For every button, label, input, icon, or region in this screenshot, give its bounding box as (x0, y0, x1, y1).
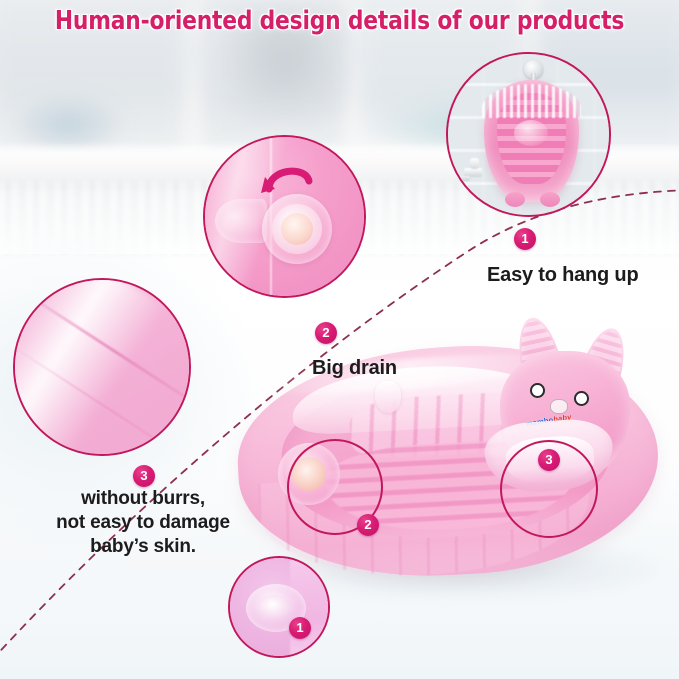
caption-without-burrs-line1: without burrs, (18, 487, 268, 511)
valve-inner-ring (257, 595, 291, 619)
caption-without-burrs-line2: not easy to damage (18, 511, 268, 535)
caption-big-drain: Big drain (312, 357, 397, 380)
callout-circle-easy-to-hang-up[interactable] (446, 52, 611, 217)
bunny-nose (550, 399, 568, 414)
caption-easy-to-hang-up: Easy to hang up (487, 264, 638, 287)
callout-circle-hanging-loop[interactable] (228, 556, 330, 658)
bunny-eye-right (574, 391, 589, 406)
badge-2-big-drain[interactable]: 2 (315, 322, 337, 344)
callout-circle-big-drain[interactable] (203, 135, 366, 298)
callout-circle-smooth-seam[interactable] (13, 278, 191, 456)
caption-without-burrs-line3: baby’s skin. (18, 535, 268, 559)
window-blue-tint (8, 95, 128, 155)
infographic-canvas: Human-oriented design details of our pro… (0, 0, 679, 679)
drain-plug-core (281, 213, 313, 245)
hanging-bathtub-feet (505, 192, 560, 208)
bunny-eye-left (530, 383, 545, 398)
badge-2-on-product-drain[interactable]: 2 (357, 514, 379, 536)
badge-1-on-valve-circle[interactable]: 1 (289, 617, 311, 639)
rotation-arrow-icon (261, 159, 319, 199)
badge-3-on-product-seam[interactable]: 3 (538, 449, 560, 471)
caption-without-burrs: without burrs, not easy to damage baby’s… (18, 487, 268, 559)
bathroom-faucet (458, 154, 488, 188)
drain-plug-tab (215, 199, 267, 243)
badge-1-easy-to-hang-up[interactable]: 1 (514, 228, 536, 250)
page-title: Human-oriented design details of our pro… (17, 6, 662, 36)
badge-3-without-burrs[interactable]: 3 (133, 465, 155, 487)
